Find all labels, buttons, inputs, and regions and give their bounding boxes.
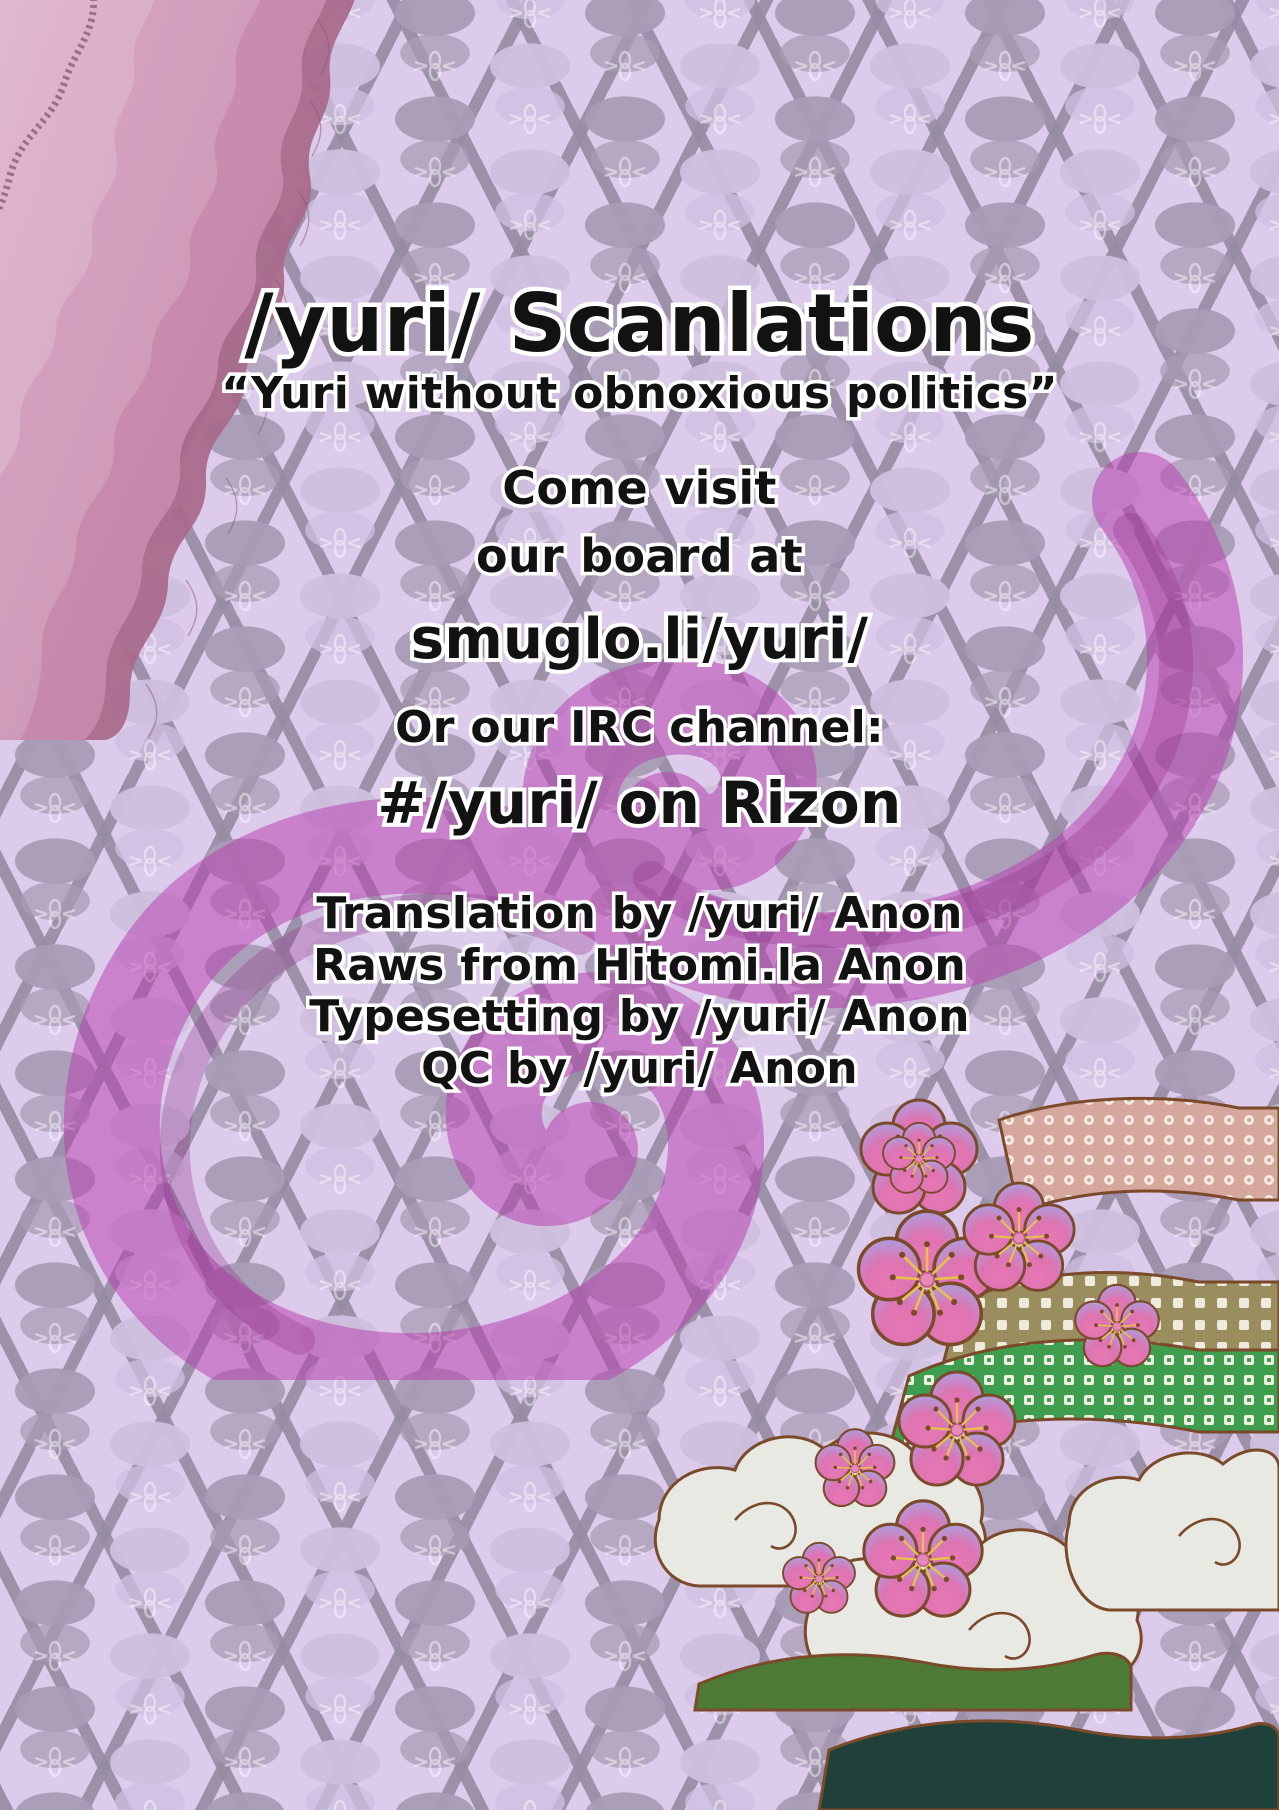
credits-page: /yuri/ Scanlations “Yuri without obnoxio… [0,0,1279,1810]
lattice-floral-motif-layer [0,0,1279,1810]
